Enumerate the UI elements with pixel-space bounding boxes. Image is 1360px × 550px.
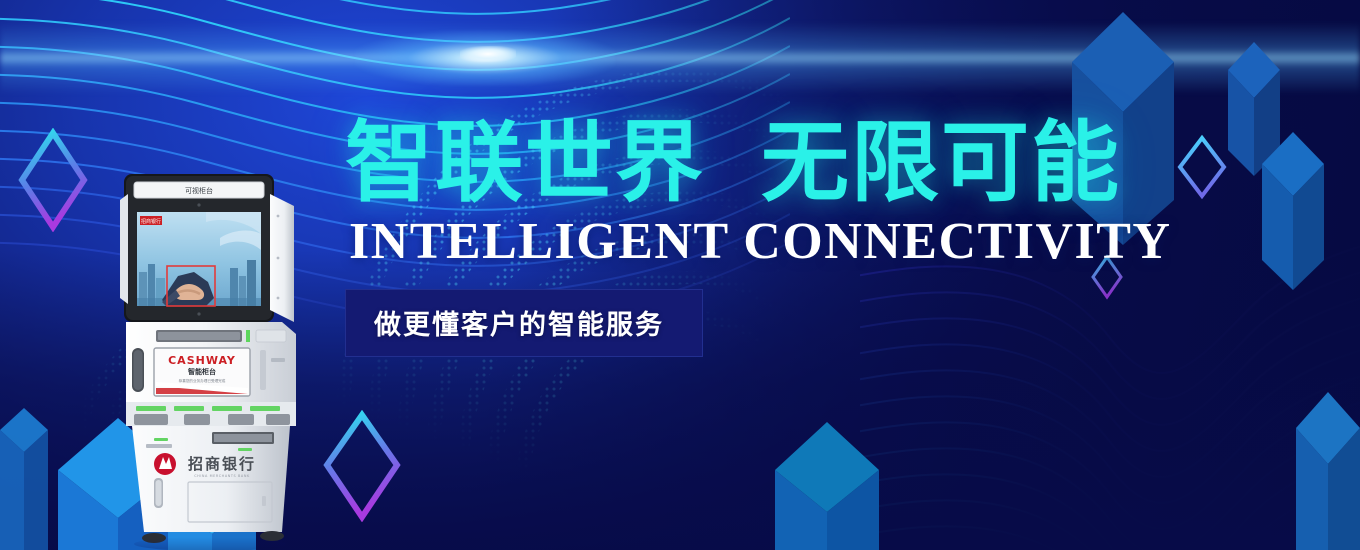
svg-text:招商银行: 招商银行 — [141, 218, 161, 225]
headline-part-1: 智联世界 — [345, 111, 705, 214]
headline-part-2: 无限可能 — [761, 111, 1121, 214]
diamond-top-left — [18, 128, 88, 232]
banner-copy: 智联世界无限可能 INTELLIGENT CONNECTIVITY 做更懂客户的… — [345, 118, 1225, 357]
kiosk-brand-note: 恭喜您的业务办理已受理完成 — [179, 378, 226, 383]
kiosk-screen-header-label: 可视柜台 — [185, 186, 213, 195]
kiosk-tray-row — [126, 402, 296, 426]
kiosk-brand-panel: CASHWAY 智能柜台 恭喜您的业务办理已受理完成 — [154, 348, 250, 396]
block-left-sliver — [0, 408, 48, 550]
block-bottom-center — [775, 422, 879, 550]
kiosk-screen-content: 招商银行 — [137, 212, 261, 306]
block-bottom-right — [1296, 392, 1360, 550]
kiosk-machine: 可视柜台 — [110, 172, 315, 550]
kiosk-lower-cabinet: 招商银行 CHINA MERCHANTS BANK — [132, 426, 290, 532]
block-right-mid — [1262, 132, 1324, 290]
kiosk-illustration: 可视柜台 — [110, 172, 315, 550]
kiosk-brand-subtitle: 智能柜台 — [188, 367, 216, 376]
kiosk-upper-console: CASHWAY 智能柜台 恭喜您的业务办理已受理完成 — [126, 322, 296, 402]
kiosk-brand-title: CASHWAY — [168, 354, 236, 367]
kiosk-bank-name: 招商银行 — [188, 455, 256, 473]
banner-root: 可视柜台 — [0, 0, 1360, 550]
page-title: 智联世界无限可能 — [345, 118, 1225, 208]
page-subtitle: INTELLIGENT CONNECTIVITY — [349, 214, 1225, 269]
diamond-bottom-center — [322, 410, 402, 522]
kiosk-monitor: 可视柜台 — [124, 174, 274, 322]
tagline-box: 做更懂客户的智能服务 — [345, 289, 703, 357]
kiosk-bank-pinyin: CHINA MERCHANTS BANK — [194, 474, 250, 478]
tagline-text: 做更懂客户的智能服务 — [374, 310, 664, 341]
kiosk-handset — [132, 348, 144, 392]
